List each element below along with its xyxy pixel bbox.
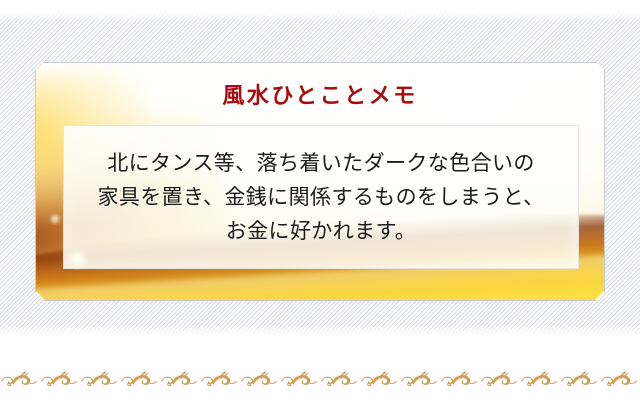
page-root: 風水ひとことメモ 北にタンス等、落ち着いたダークな色合いの 家具を置き、金銭に関… xyxy=(0,0,640,403)
memo-line: 北にタンス等、落ち着いたダークな色合いの xyxy=(107,146,535,180)
flourish-swirl-ornament-icon xyxy=(200,367,240,391)
flourish-swirl-ornament-icon xyxy=(120,367,160,391)
page-title: 風水ひとことメモ xyxy=(36,85,604,107)
flourish-swirl-ornament-icon xyxy=(40,367,80,391)
flourish-swirl-ornament-icon xyxy=(440,367,480,391)
flourish-swirl-ornament-icon xyxy=(400,367,440,391)
memo-panel: 北にタンス等、落ち着いたダークな色合いの 家具を置き、金銭に関係するものをしまう… xyxy=(63,125,579,269)
flourish-swirl-ornament-icon xyxy=(560,367,600,391)
memo-line: お金に好かれます。 xyxy=(226,214,417,248)
flourish-swirl-ornament-icon xyxy=(280,367,320,391)
bottom-ornament-band xyxy=(0,364,640,394)
flourish-swirl-ornament-icon xyxy=(600,367,640,391)
flourish-swirl-ornament-icon xyxy=(80,367,120,391)
flourish-swirl-ornament-icon xyxy=(520,367,560,391)
flourish-swirl-ornament-icon xyxy=(320,367,360,391)
flourish-swirl-ornament-icon xyxy=(360,367,400,391)
flourish-swirl-ornament-icon xyxy=(240,367,280,391)
flourish-swirl-ornament-icon xyxy=(0,367,40,391)
card-content: 風水ひとことメモ 北にタンス等、落ち着いたダークな色合いの 家具を置き、金銭に関… xyxy=(36,63,604,300)
flourish-swirl-ornament-icon xyxy=(480,367,520,391)
fengshui-memo-card: 風水ひとことメモ 北にタンス等、落ち着いたダークな色合いの 家具を置き、金銭に関… xyxy=(35,62,605,301)
flourish-swirl-ornament-icon xyxy=(160,367,200,391)
memo-line: 家具を置き、金銭に関係するものをしまうと、 xyxy=(97,180,544,214)
